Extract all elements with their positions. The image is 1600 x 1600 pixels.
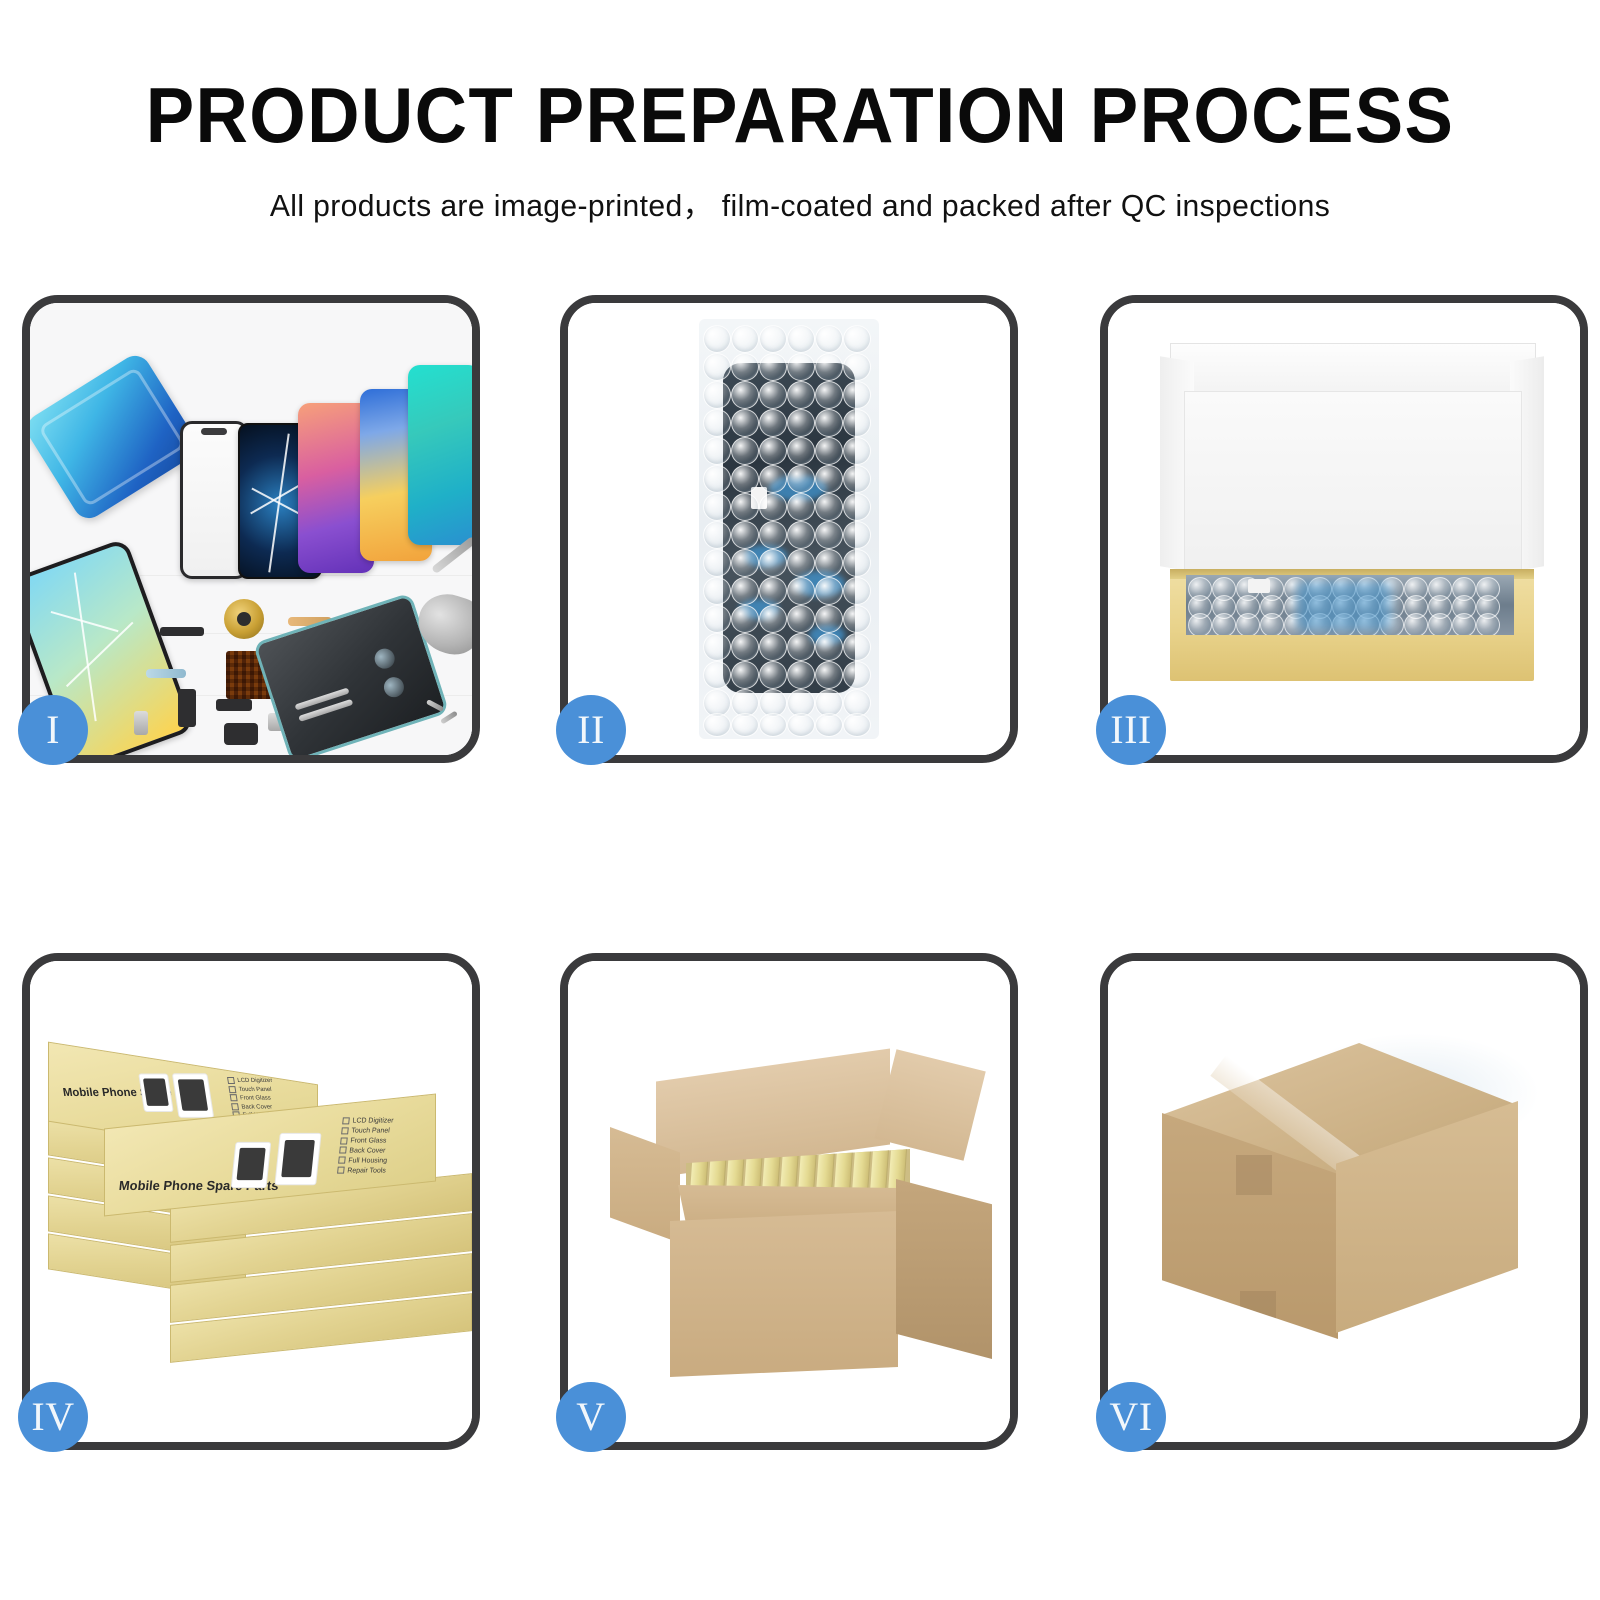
step-panel-4: Mobile Phone Spare Parts LCD Digitizer T… bbox=[22, 953, 480, 1450]
retail-box-stack-scene: Mobile Phone Spare Parts LCD Digitizer T… bbox=[30, 961, 472, 1442]
checklist-item: Touch Panel bbox=[238, 1087, 272, 1093]
step-panel-3: III bbox=[1100, 295, 1588, 763]
step-badge-2: II bbox=[556, 695, 626, 765]
step-panel-6: VI bbox=[1100, 953, 1588, 1450]
carton-right-face bbox=[896, 1179, 992, 1359]
checklist-item: LCD Digitizer bbox=[237, 1078, 273, 1084]
checklist-item: Full Housing bbox=[348, 1157, 387, 1164]
retail-box-checklist: LCD Digitizer Touch Panel Front Glass Ba… bbox=[337, 1116, 394, 1176]
camera-module-icon bbox=[224, 723, 258, 745]
sealed-carton-scene bbox=[1108, 961, 1580, 1442]
sim-tray-icon bbox=[134, 711, 148, 735]
step-image-2 bbox=[568, 303, 1010, 755]
open-shipping-carton-icon bbox=[598, 1031, 998, 1399]
checklist-item: Front Glass bbox=[350, 1137, 387, 1144]
open-mailer-scene bbox=[1108, 303, 1580, 755]
ribbon-cable-icon bbox=[146, 669, 186, 678]
step-image-1 bbox=[30, 303, 472, 755]
step-badge-4: IV bbox=[18, 1382, 88, 1452]
step-badge-1: I bbox=[18, 695, 88, 765]
step-image-4: Mobile Phone Spare Parts LCD Digitizer T… bbox=[30, 961, 472, 1442]
teal-phone-icon bbox=[408, 365, 472, 545]
step-panel-1: I bbox=[22, 295, 480, 763]
bubble-wrapped-contents-icon bbox=[1186, 575, 1514, 635]
checklist-item: LCD Digitizer bbox=[352, 1117, 394, 1124]
sealed-shipping-carton-icon bbox=[1140, 1043, 1552, 1393]
checklist-item: Touch Panel bbox=[351, 1127, 390, 1134]
open-carton-scene bbox=[568, 961, 1010, 1442]
page-title: PRODUCT PREPARATION PROCESS bbox=[56, 0, 1544, 154]
checklist-item: Back Cover bbox=[241, 1104, 273, 1110]
wireless-coil-icon bbox=[224, 599, 264, 639]
gold-box-stack-icon: Mobile Phone Spare Parts LCD Digitizer T… bbox=[48, 1017, 472, 1409]
step-badge-3: III bbox=[1096, 695, 1166, 765]
step-badge-6: VI bbox=[1096, 1382, 1166, 1452]
vibration-motor-icon bbox=[216, 699, 252, 711]
checklist-item: Back Cover bbox=[349, 1147, 386, 1154]
speaker-module-icon bbox=[160, 627, 204, 636]
carton-flap-right bbox=[874, 1049, 986, 1161]
process-steps-grid: I bbox=[22, 295, 1588, 1455]
step-badge-5: V bbox=[556, 1382, 626, 1452]
open-mailer-box-icon bbox=[1152, 343, 1552, 723]
phone-parts-scene bbox=[30, 303, 472, 755]
bubble-texture bbox=[699, 319, 879, 739]
step-image-6 bbox=[1108, 961, 1580, 1442]
bubble-wrap-package-icon bbox=[699, 319, 879, 739]
checklist-item: Front Glass bbox=[240, 1095, 272, 1101]
bubble-wrap-scene bbox=[568, 303, 1010, 755]
page-header: PRODUCT PREPARATION PROCESS All products… bbox=[0, 0, 1600, 225]
carton-front-face bbox=[670, 1211, 898, 1377]
small-connector-icon bbox=[178, 689, 196, 727]
screws-icon bbox=[426, 703, 466, 729]
step-image-5 bbox=[568, 961, 1010, 1442]
page-subtitle: All products are image-printed， film-coa… bbox=[24, 154, 1576, 225]
step-image-3 bbox=[1108, 303, 1580, 755]
checklist-item: Repair Tools bbox=[347, 1167, 386, 1174]
step-panel-5: V bbox=[560, 953, 1018, 1450]
step-panel-2: II bbox=[560, 295, 1018, 763]
